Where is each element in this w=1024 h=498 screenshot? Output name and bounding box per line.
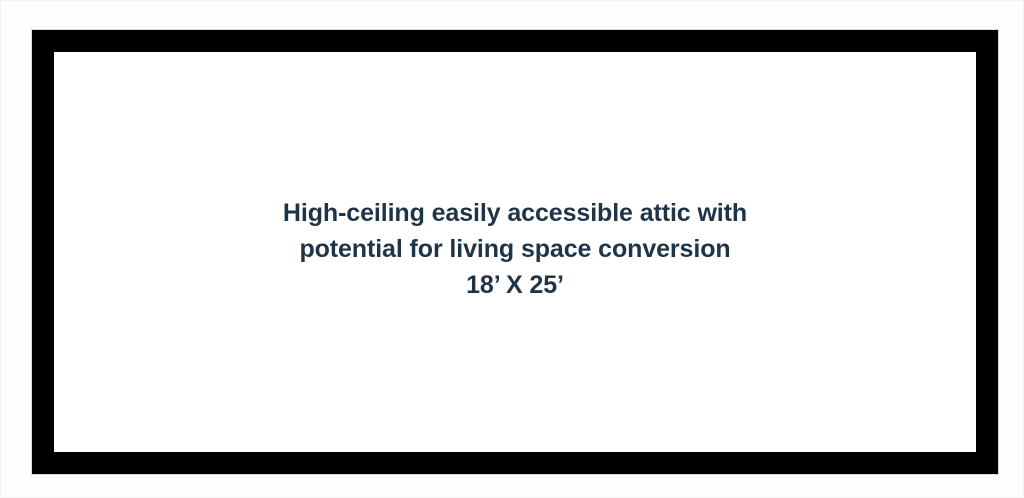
- caption-line-1: High-ceiling easily accessible attic wit…: [54, 195, 976, 231]
- slide-canvas: High-ceiling easily accessible attic wit…: [0, 0, 1024, 498]
- black-picture-frame: High-ceiling easily accessible attic wit…: [32, 30, 998, 474]
- caption-line-3-dimensions: 18’ X 25’: [54, 267, 976, 303]
- caption-text-block: High-ceiling easily accessible attic wit…: [54, 195, 976, 309]
- frame-inner-plate: High-ceiling easily accessible attic wit…: [54, 52, 976, 452]
- caption-line-2: potential for living space conversion: [54, 231, 976, 267]
